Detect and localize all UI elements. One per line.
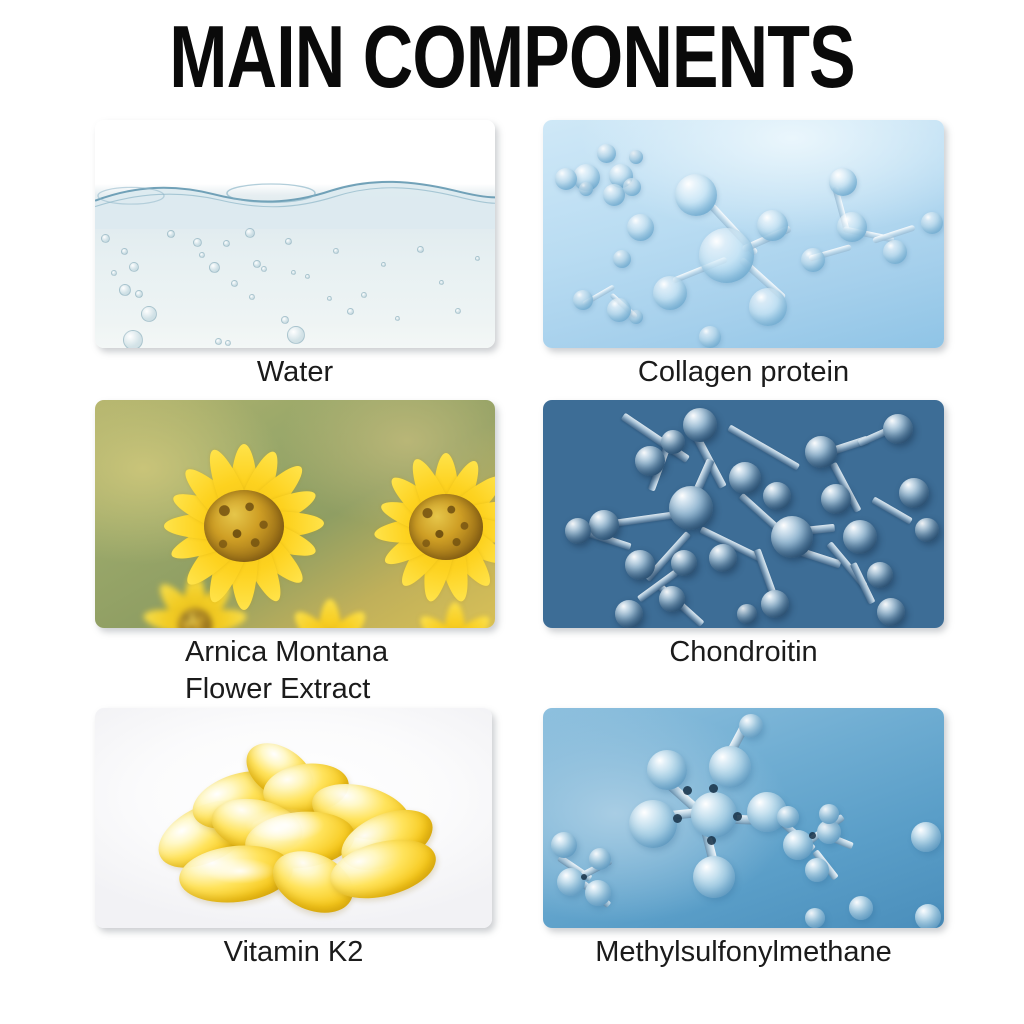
component-card-water[interactable]: Water xyxy=(95,120,495,392)
water-surface-line xyxy=(95,179,495,229)
components-grid: Water xyxy=(0,0,1024,1024)
component-card-methylsulfonylmethane[interactable]: Methylsulfonylmethane xyxy=(543,708,944,988)
arnica-montana-flower-extract-image xyxy=(95,400,495,628)
vitamin-k2-image xyxy=(95,708,492,928)
arnica-flower-back-bottom xyxy=(265,592,395,628)
component-label-arnica-montana-flower-extract: Arnica Montana Flower Extract xyxy=(185,634,505,708)
component-card-chondroitin[interactable]: Chondroitin xyxy=(543,400,944,700)
component-card-vitamin-k2[interactable]: Vitamin K2 xyxy=(95,708,492,988)
component-label-chondroitin: Chondroitin xyxy=(543,634,944,671)
component-card-collagen-protein[interactable]: Collagen protein xyxy=(543,120,944,392)
component-label-collagen-protein: Collagen protein xyxy=(543,354,944,391)
arnica-flower-back-right xyxy=(395,596,495,628)
component-card-arnica-montana-flower-extract[interactable]: Arnica Montana Flower Extract xyxy=(95,400,495,700)
component-label-water: Water xyxy=(95,354,495,391)
methylsulfonylmethane-image xyxy=(543,708,944,928)
water-image xyxy=(95,120,495,348)
infographic-page: MAIN COMPONENTS xyxy=(0,0,1024,1024)
component-label-vitamin-k2: Vitamin K2 xyxy=(95,934,492,971)
collagen-protein-image xyxy=(543,120,944,348)
chondroitin-image xyxy=(543,400,944,628)
component-label-methylsulfonylmethane: Methylsulfonylmethane xyxy=(543,934,944,971)
